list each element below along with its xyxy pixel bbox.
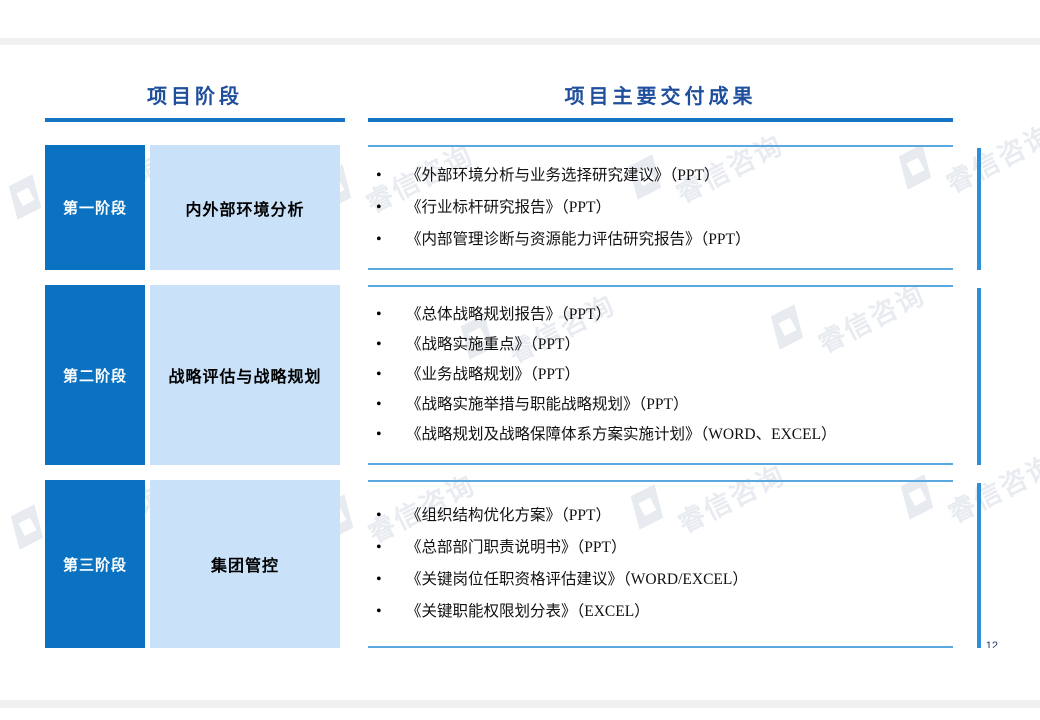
watermark-text: 睿信咨询 <box>938 113 1040 200</box>
deliverable-text: 《关键职能权限划分表》（EXCEL） <box>406 604 650 620</box>
deliverables-accent-bar <box>977 288 981 465</box>
phase-cell: 第二阶段 <box>45 285 145 465</box>
watermark-logo-icon <box>892 144 938 190</box>
phase-label: 第一阶段 <box>63 197 127 218</box>
page-separator-top <box>0 38 1040 45</box>
header-rule-left <box>45 118 345 122</box>
bullet-icon: • <box>376 200 406 216</box>
bullet-icon: • <box>376 508 406 524</box>
deliverable-text: 《组织结构优化方案》（PPT） <box>406 508 611 524</box>
watermark-logo-icon <box>4 504 50 550</box>
watermark-text: 睿信咨询 <box>670 453 791 540</box>
deliverable-text: 《战略实施重点》（PPT） <box>406 337 580 353</box>
header-rule-right <box>368 118 953 122</box>
bullet-icon: • <box>376 232 406 248</box>
deliverables-rule-top <box>368 480 953 482</box>
deliverable-text: 《战略实施举措与职能战略规划》（PPT） <box>406 397 688 413</box>
deliverables-rule-top <box>368 145 953 147</box>
phase-label: 第二阶段 <box>63 365 127 386</box>
topic-label: 战略评估与战略规划 <box>168 363 321 387</box>
deliverable-text: 《总体战略规划报告》（PPT） <box>406 307 611 323</box>
bullet-icon: • <box>376 604 406 620</box>
bullet-icon: • <box>376 337 406 353</box>
deliverable-text: 《战略规划及战略保障体系方案实施计划》（WORD、EXCEL） <box>406 427 837 443</box>
deliverables-rule-bottom <box>368 268 953 270</box>
topic-cell: 战略评估与战略规划 <box>150 285 340 465</box>
topic-label: 集团管控 <box>211 552 279 576</box>
watermark-logo-icon <box>764 304 810 350</box>
deliverables-accent-bar <box>977 148 981 270</box>
deliverable-text: 《业务战略规划》（PPT） <box>406 367 580 383</box>
bullet-icon: • <box>376 367 406 383</box>
bullet-icon: • <box>376 427 406 443</box>
topic-cell: 集团管控 <box>150 480 340 648</box>
page-number: 12 <box>986 641 998 648</box>
topic-label: 内外部环境分析 <box>185 196 304 220</box>
deliverable-text: 《内部管理诊断与资源能力评估研究报告》（PPT） <box>406 232 750 248</box>
bullet-icon: • <box>376 540 406 556</box>
deliverable-text: 《总部部门职责说明书》（PPT） <box>406 540 626 556</box>
phase-cell: 第三阶段 <box>45 480 145 648</box>
deliverable-text: 《外部环境分析与业务选择研究建议》（PPT） <box>406 168 719 184</box>
bullet-icon: • <box>376 572 406 588</box>
phase-cell: 第一阶段 <box>45 145 145 270</box>
deliverable-text: 《关键岗位任职资格评估建议》（WORD/EXCEL） <box>406 572 748 588</box>
watermark-text: 睿信咨询 <box>500 283 621 370</box>
watermark-text: 睿信咨询 <box>940 443 1040 530</box>
deliverables-rule-bottom <box>368 646 953 648</box>
column-header-phase: 项目阶段 <box>45 80 345 109</box>
deliverable-text: 《行业标杆研究报告》（PPT） <box>406 200 611 216</box>
topic-cell: 内外部环境分析 <box>150 145 340 270</box>
watermark-logo-icon <box>624 484 670 530</box>
page-separator-bottom <box>0 700 1040 708</box>
phase-label: 第三阶段 <box>63 554 127 575</box>
bullet-icon: • <box>376 307 406 323</box>
column-header-deliverables: 项目主要交付成果 <box>368 80 953 109</box>
deliverables-rule-bottom <box>368 463 953 465</box>
deliverables-accent-bar <box>977 483 981 648</box>
deliverables-rule-top <box>368 285 953 287</box>
watermark-logo-icon <box>2 174 48 220</box>
bullet-icon: • <box>376 397 406 413</box>
bullet-icon: • <box>376 168 406 184</box>
